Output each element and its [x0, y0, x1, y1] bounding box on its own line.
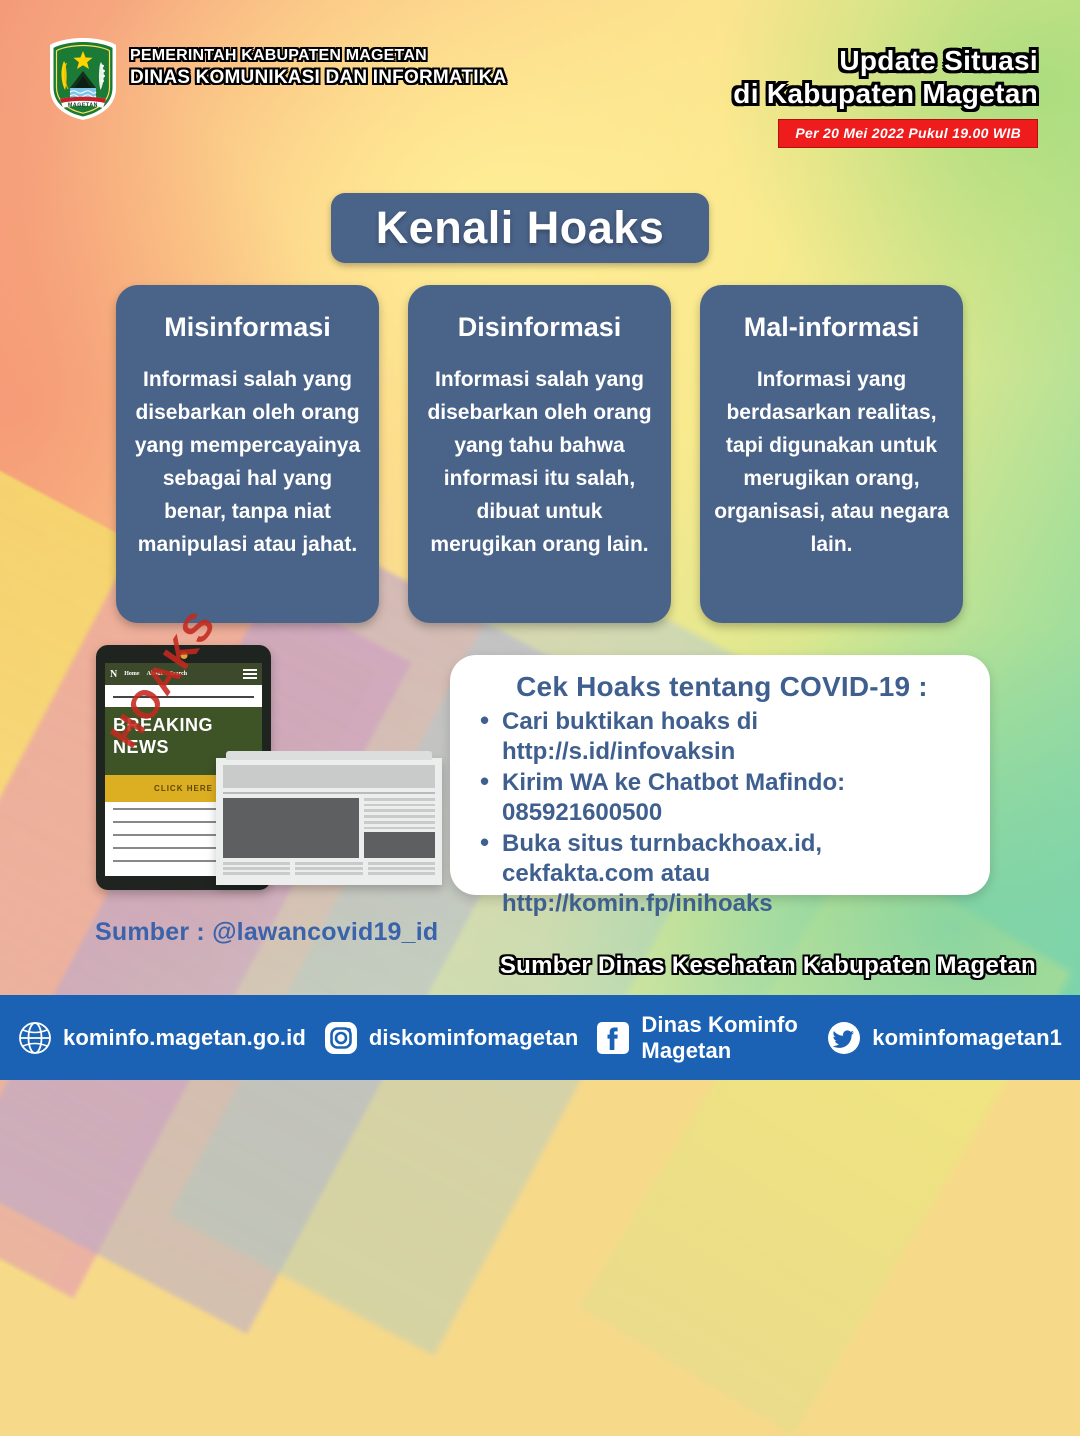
- tablet-camera-icon: [180, 652, 187, 659]
- newspaper-masthead: [223, 765, 435, 788]
- nav-item-home: Home: [124, 671, 139, 677]
- card-body: Informasi salah yang disebarkan oleh ora…: [130, 363, 365, 561]
- footer-label: Dinas Kominfo Magetan: [641, 1012, 809, 1064]
- list-item: Cari buktikan hoaks di http://s.id/infov…: [476, 707, 968, 767]
- update-heading: Update Situasi di Kabupaten Magetan Per …: [733, 44, 1038, 148]
- footer-item-twitter[interactable]: kominfomagetan1: [827, 1021, 1062, 1055]
- footer-item-instagram[interactable]: diskominfomagetan: [324, 1021, 579, 1055]
- page-title-text: Kenali Hoaks: [376, 202, 665, 254]
- government-title: PEMERINTAH KABUPATEN MAGETAN DINAS KOMUN…: [130, 46, 507, 89]
- list-item: Kirim WA ke Chatbot Mafindo: 08592160050…: [476, 768, 968, 828]
- magetan-coat-of-arms-icon: MAGETAN: [46, 36, 120, 122]
- footer-label: kominfo.magetan.go.id: [63, 1025, 306, 1051]
- hamburger-icon: [243, 669, 257, 679]
- tablet-subheader: [105, 685, 262, 707]
- tablet-navbar: N Home About Search: [105, 663, 262, 685]
- footer-bar: kominfo.magetan.go.id diskominfomagetan …: [0, 995, 1080, 1080]
- newspaper-column: [364, 798, 435, 858]
- list-item: Buka situs turnbackhoax.id, cekfakta.com…: [476, 829, 968, 919]
- card-title: Misinformasi: [130, 311, 365, 343]
- newspaper-footer: [223, 862, 435, 875]
- card-disinformasi: Disinformasi Informasi salah yang diseba…: [408, 285, 671, 623]
- update-line-2: di Kabupaten Magetan: [733, 77, 1038, 110]
- card-misinformasi: Misinformasi Informasi salah yang diseba…: [116, 285, 379, 623]
- tablet-cta-label: CLICK HERE: [154, 784, 213, 793]
- newspaper-body: [223, 798, 435, 858]
- newspaper-photo-small: [364, 832, 435, 858]
- panel-list: Cari buktikan hoaks di http://s.id/infov…: [476, 707, 968, 919]
- card-body: Informasi salah yang disebarkan oleh ora…: [422, 363, 657, 561]
- footer-item-website[interactable]: kominfo.magetan.go.id: [18, 1021, 306, 1055]
- newspaper-rule: [223, 792, 435, 794]
- nav-item-about: About: [147, 671, 163, 677]
- card-title: Mal-informasi: [714, 311, 949, 343]
- facebook-icon: [596, 1021, 630, 1055]
- instagram-icon: [324, 1021, 358, 1055]
- footer-label: diskominfomagetan: [369, 1025, 579, 1051]
- card-title: Disinformasi: [422, 311, 657, 343]
- date-badge: Per 20 Mei 2022 Pukul 19.00 WIB: [778, 119, 1038, 148]
- source-dinas-kesehatan: Sumber Dinas Kesehatan Kabupaten Magetan: [500, 952, 1036, 980]
- update-line-1: Update Situasi: [733, 44, 1038, 77]
- gov-line-1: PEMERINTAH KABUPATEN MAGETAN: [130, 46, 507, 66]
- panel-title: Cek Hoaks tentang COVID-19 :: [476, 671, 968, 703]
- source-lawancovid: Sumber : @lawancovid19_id: [95, 918, 438, 947]
- newspaper-illustration: [216, 758, 442, 885]
- card-mal-informasi: Mal-informasi Informasi yang berdasarkan…: [700, 285, 963, 623]
- twitter-icon: [827, 1021, 861, 1055]
- header: MAGETAN PEMERINTAH KABUPATEN MAGETAN DIN…: [0, 0, 1080, 160]
- site-logo: N: [110, 669, 117, 680]
- gov-line-2: DINAS KOMUNIKASI DAN INFORMATIKA: [130, 66, 507, 89]
- hoax-illustration: N Home About Search BREAKING NEWS CLICK …: [88, 645, 448, 915]
- newspaper-photo: [223, 798, 359, 858]
- page-title: Kenali Hoaks: [331, 193, 709, 263]
- nav-item-search: Search: [170, 671, 188, 677]
- cek-hoaks-panel: Cek Hoaks tentang COVID-19 : Cari buktik…: [450, 655, 990, 895]
- footer-label: kominfomagetan1: [872, 1025, 1062, 1051]
- globe-icon: [18, 1021, 52, 1055]
- card-body: Informasi yang berdasarkan realitas, tap…: [714, 363, 949, 561]
- svg-text:MAGETAN: MAGETAN: [68, 103, 98, 109]
- footer-item-facebook[interactable]: Dinas Kominfo Magetan: [596, 1012, 809, 1064]
- headline-line-1: BREAKING: [113, 714, 254, 736]
